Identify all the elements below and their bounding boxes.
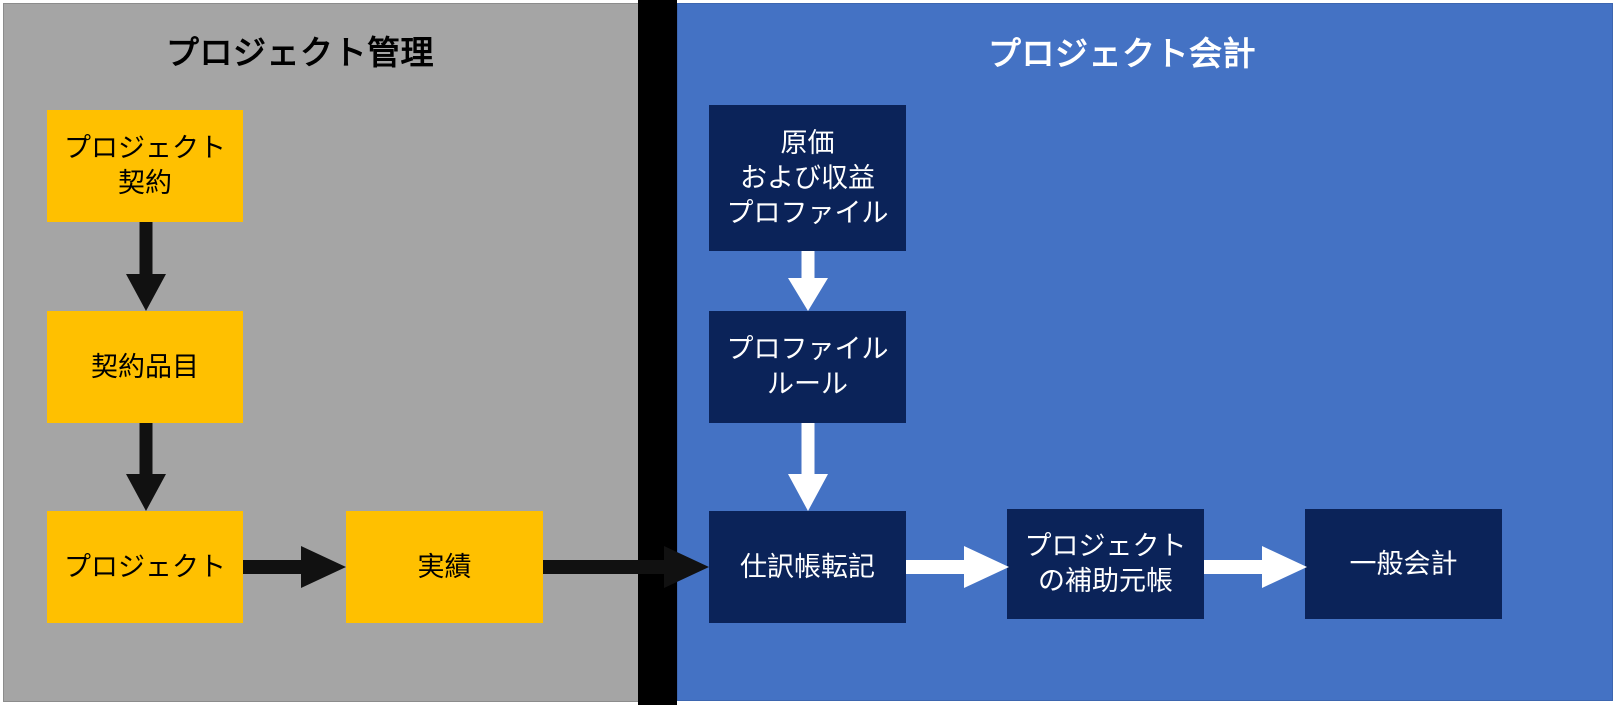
diagram-canvas: プロジェクト管理 プロジェクト会計 プロジェクト 契約 契約品目 プロジェクト … bbox=[0, 0, 1619, 705]
arrow-project-contract-to-contract-line-item bbox=[125, 222, 167, 312]
node-project-contract[interactable]: プロジェクト 契約 bbox=[47, 110, 243, 222]
node-project-subledger[interactable]: プロジェクト の補助元帳 bbox=[1007, 509, 1204, 619]
node-journal-posting[interactable]: 仕訳帳転記 bbox=[709, 511, 906, 623]
node-general-accounting[interactable]: 一般会計 bbox=[1305, 509, 1502, 619]
arrow-actuals-to-journal-posting bbox=[543, 545, 710, 589]
node-contract-line-item[interactable]: 契約品目 bbox=[47, 311, 243, 423]
arrow-profile-rule-to-journal-posting bbox=[787, 423, 829, 512]
arrow-project-to-actuals bbox=[243, 545, 347, 589]
arrow-project-subledger-to-general-accounting bbox=[1204, 545, 1308, 589]
node-profile-rule[interactable]: プロファイル ルール bbox=[709, 311, 906, 423]
arrow-journal-posting-to-project-subledger bbox=[906, 545, 1010, 589]
arrow-contract-line-item-to-project bbox=[125, 423, 167, 512]
arrow-cost-revenue-profile-to-profile-rule bbox=[787, 251, 829, 312]
node-cost-revenue-profile[interactable]: 原価 および収益 プロファイル bbox=[709, 105, 906, 251]
project-management-title: プロジェクト管理 bbox=[0, 33, 600, 73]
node-project[interactable]: プロジェクト bbox=[47, 511, 243, 623]
project-accounting-title: プロジェクト会計 bbox=[682, 34, 1562, 74]
node-actuals[interactable]: 実績 bbox=[346, 511, 543, 623]
panel-divider bbox=[638, 0, 677, 705]
